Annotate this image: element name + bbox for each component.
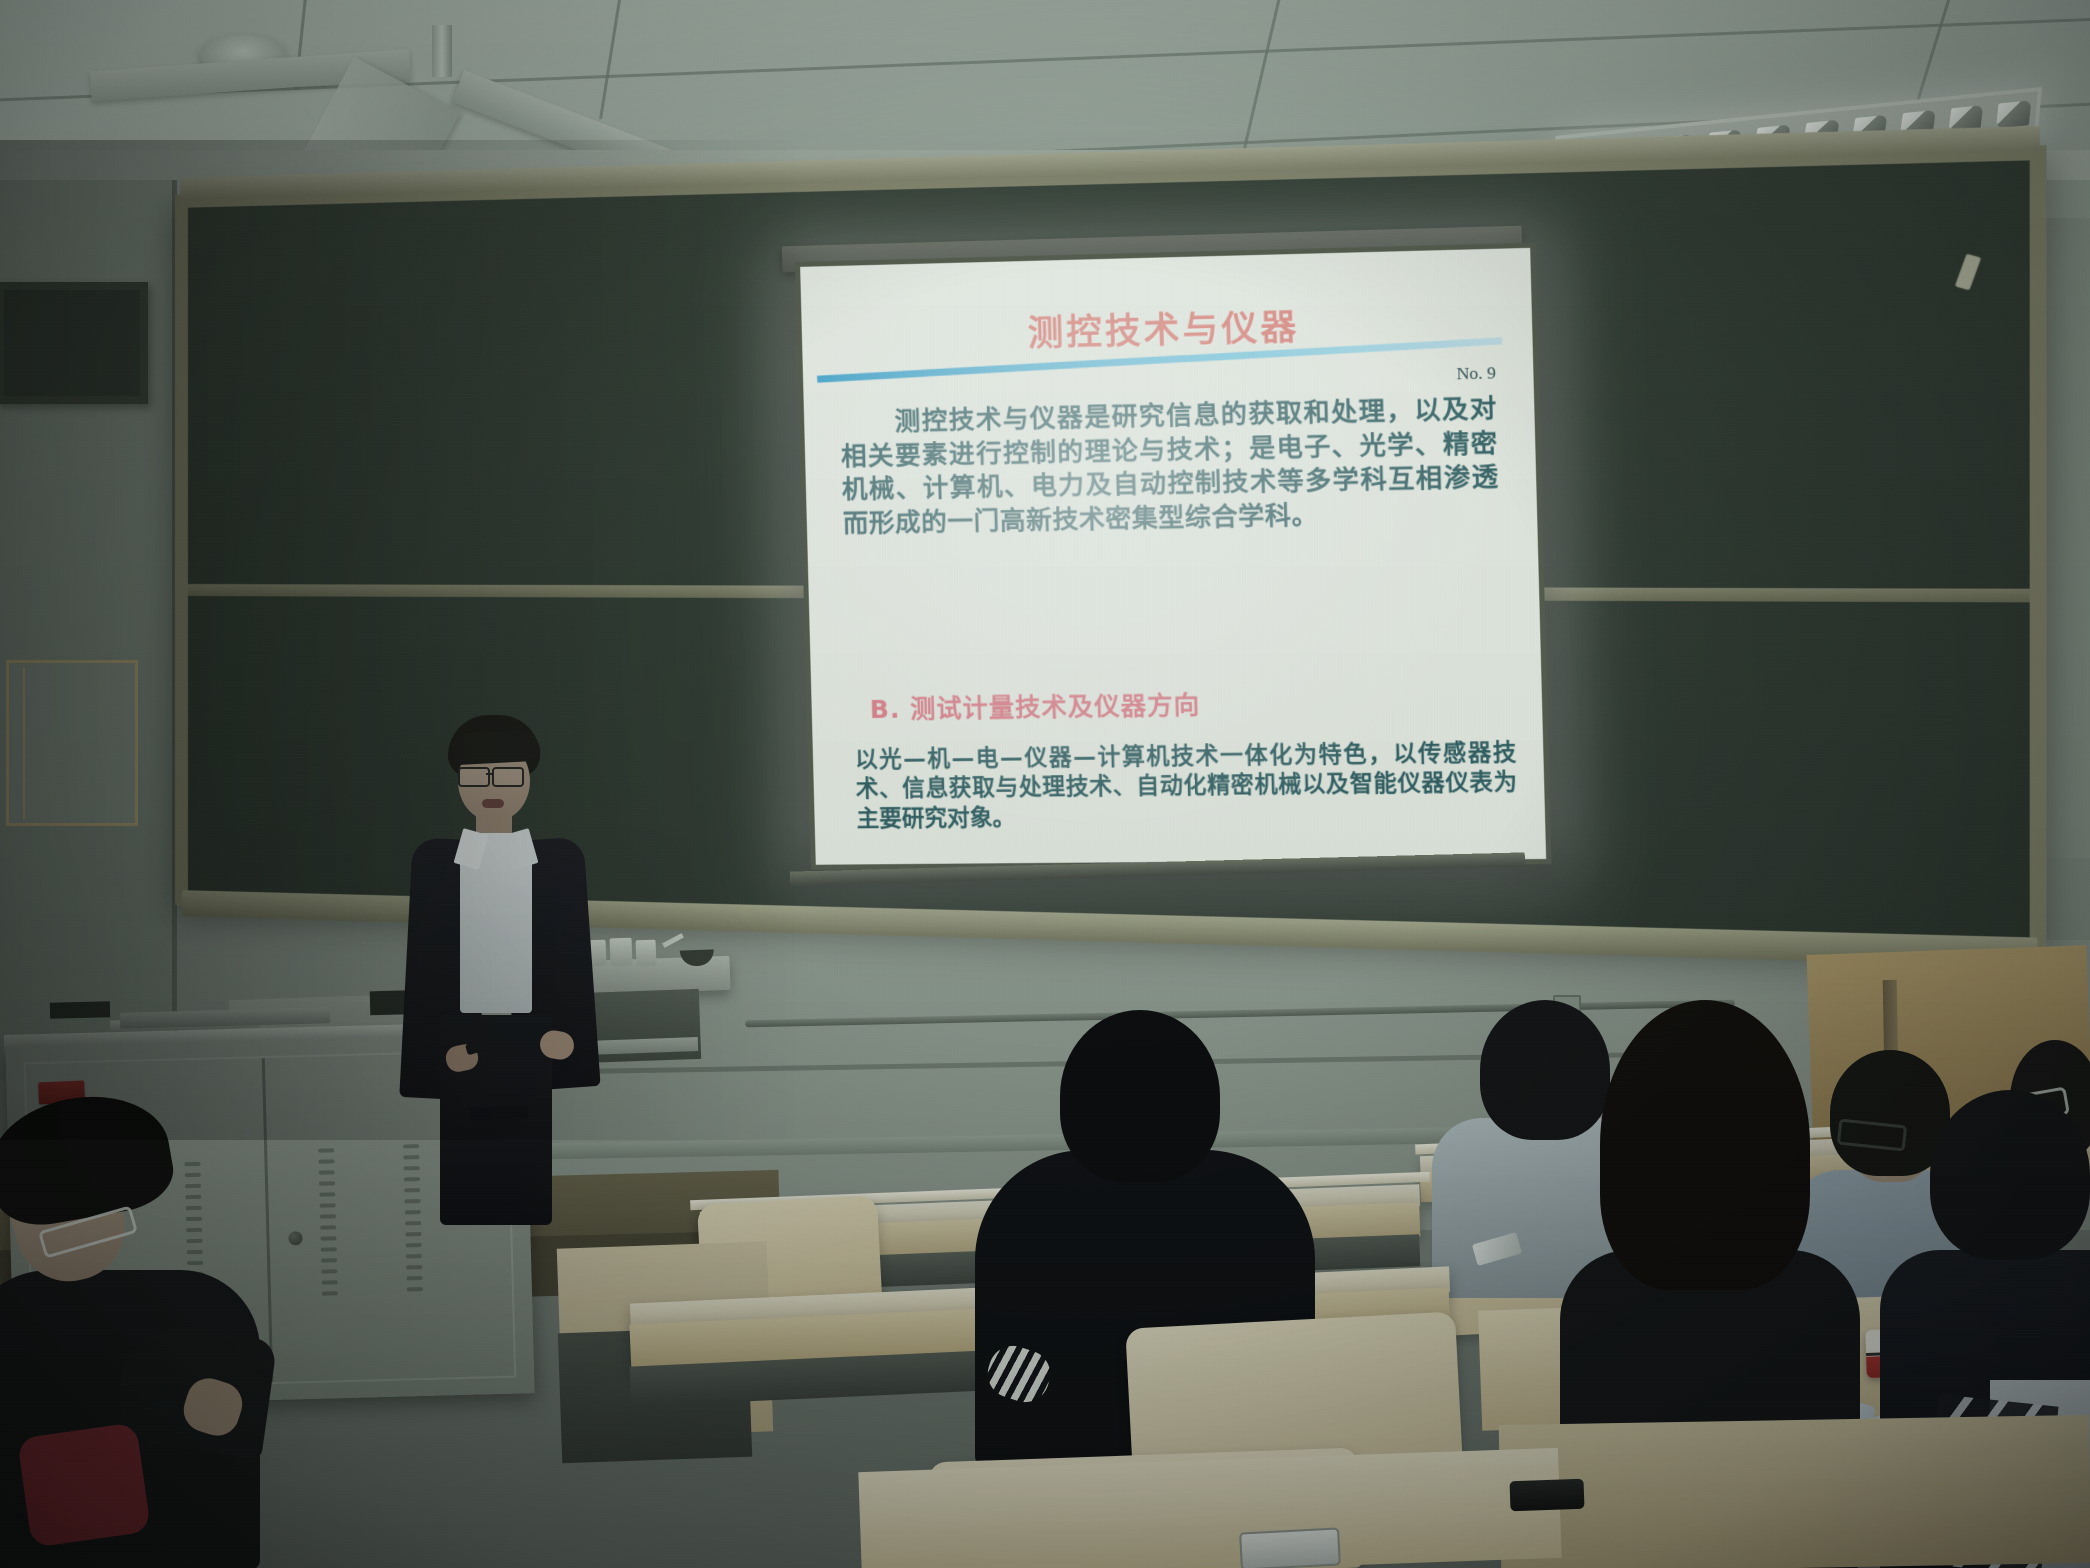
slide-title: 测控技术与仪器: [831, 294, 1501, 362]
smartphone: [1509, 1479, 1584, 1512]
presenter-hair-front: [449, 729, 541, 766]
student-front-center-head: [1060, 1010, 1220, 1182]
cabinet-top-item: [50, 1001, 110, 1019]
slide-paragraph-1-text: 测控技术与仪器是研究信息的获取和处理，以及对相关要素进行控制的理论与技术；是电子…: [841, 394, 1499, 539]
fan-rod: [432, 25, 452, 77]
projection-screen: 测控技术与仪器 No. 9 测控技术与仪器是研究信息的获取和处理，以及对相关要素…: [795, 243, 1552, 870]
slide-section-heading: B. 测试计量技术及仪器方向: [869, 686, 1200, 726]
slide-paragraph-1: 测控技术与仪器是研究信息的获取和处理，以及对相关要素进行控制的理论与技术；是电子…: [834, 393, 1506, 542]
ceiling-tile-line: [599, 0, 624, 119]
presenter-mouth: [482, 799, 504, 808]
slide-paragraph-2: 以光—机—电—仪器—计算机技术一体化为特色，以传感器技术、信息获取与处理技术、自…: [855, 739, 1519, 834]
student-right-striped-head: [1930, 1090, 2090, 1260]
paper-cup: [636, 940, 657, 967]
slide-page-number: No. 9: [1456, 363, 1496, 384]
glasses-icon: [492, 767, 524, 787]
desk-right-front: [1499, 1415, 2090, 1568]
student-front-left-collar: [17, 1422, 151, 1548]
smartphone: [1239, 1527, 1341, 1568]
paper-cup: [610, 938, 633, 967]
wall-notice-frame: [6, 660, 138, 826]
notice-board: [0, 282, 148, 404]
student-right-long-hair: [1600, 1000, 1810, 1290]
slide: 测控技术与仪器 No. 9 测控技术与仪器是研究信息的获取和处理，以及对相关要素…: [800, 248, 1546, 865]
presenter: [400, 715, 600, 1225]
classroom-photo: 测控技术与仪器 No. 9 测控技术与仪器是研究信息的获取和处理，以及对相关要素…: [0, 0, 2090, 1568]
student-right-phone-head: [1480, 1000, 1610, 1140]
glasses-bridge: [486, 773, 494, 775]
glasses-icon: [458, 767, 490, 787]
ceiling-fan-icon: [200, 35, 286, 75]
presenter-belt: [470, 1106, 528, 1120]
